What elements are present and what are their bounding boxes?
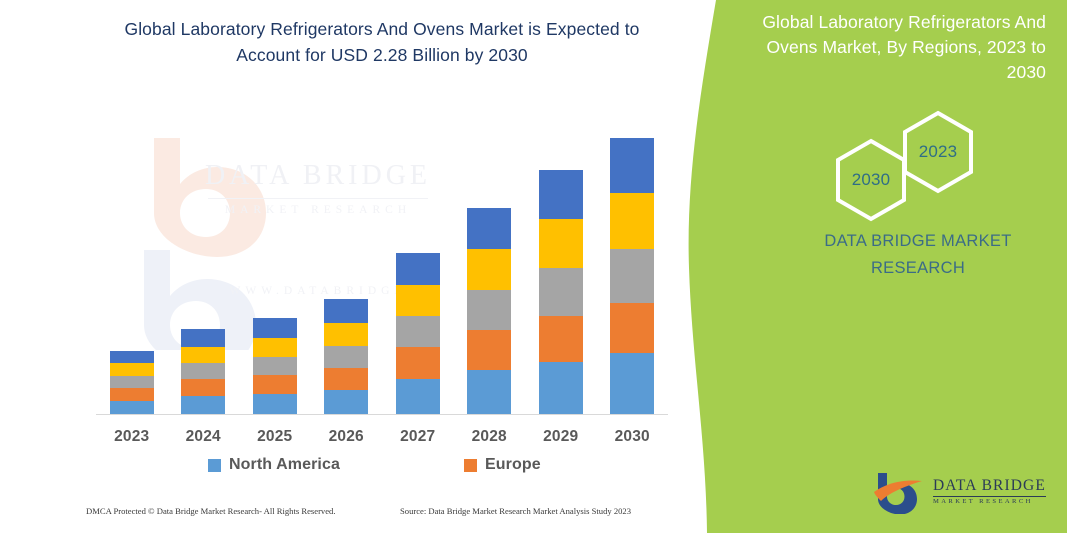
bar-segment-2025-north-america[interactable] bbox=[253, 394, 297, 415]
bar-segment-2027-series-4[interactable] bbox=[396, 285, 440, 316]
footer: DMCA Protected © Data Bridge Market Rese… bbox=[0, 506, 700, 526]
legend-label: Europe bbox=[485, 456, 541, 474]
bar-segment-2023-series-3[interactable] bbox=[110, 376, 154, 388]
data-bridge-logo-icon bbox=[872, 470, 924, 514]
legend-swatch-icon bbox=[464, 459, 477, 472]
bar-segment-2023-series-4[interactable] bbox=[110, 363, 154, 376]
hexagon-2030-label: 2030 bbox=[833, 138, 909, 222]
data-bridge-logo: DATA BRIDGE MARKET RESEARCH bbox=[872, 470, 1046, 514]
bar-segment-2024-series-5[interactable] bbox=[181, 329, 225, 347]
bar-column-2025[interactable] bbox=[253, 318, 297, 415]
bar-segment-2027-series-3[interactable] bbox=[396, 316, 440, 347]
bar-column-2027[interactable] bbox=[396, 253, 440, 415]
x-axis-label-2030: 2030 bbox=[596, 428, 668, 446]
bar-segment-2026-series-3[interactable] bbox=[324, 346, 368, 368]
bar-segment-2027-north-america[interactable] bbox=[396, 379, 440, 415]
logo-main-text: DATA BRIDGE bbox=[933, 478, 1046, 494]
bar-segment-2028-north-america[interactable] bbox=[467, 370, 511, 415]
bar-segment-2028-series-3[interactable] bbox=[467, 290, 511, 330]
hexagon-2023: 2023 bbox=[900, 110, 976, 199]
bar-segment-2027-series-5[interactable] bbox=[396, 253, 440, 285]
bar-chart-plot-area bbox=[96, 100, 668, 415]
bar-segment-2029-series-5[interactable] bbox=[539, 170, 583, 219]
bar-segment-2023-north-america[interactable] bbox=[110, 401, 154, 415]
bar-segment-2025-series-5[interactable] bbox=[253, 318, 297, 338]
bar-segment-2026-europe[interactable] bbox=[324, 368, 368, 390]
bar-segment-2030-series-4[interactable] bbox=[610, 193, 654, 249]
bar-segment-2023-series-5[interactable] bbox=[110, 351, 154, 363]
bar-column-2026[interactable] bbox=[324, 299, 368, 415]
x-axis-label-2026: 2026 bbox=[310, 428, 382, 446]
bar-segment-2028-series-5[interactable] bbox=[467, 208, 511, 249]
x-axis-labels: 20232024202520262027202820292030 bbox=[96, 428, 668, 454]
bar-segment-2029-europe[interactable] bbox=[539, 316, 583, 362]
data-bridge-logo-text: DATA BRIDGE MARKET RESEARCH bbox=[933, 478, 1046, 505]
panel-brand-subtitle: DATA BRIDGE MARKET RESEARCH bbox=[790, 228, 1046, 282]
bar-segment-2024-europe[interactable] bbox=[181, 379, 225, 396]
bar-segment-2026-series-5[interactable] bbox=[324, 299, 368, 323]
hexagon-2023-label: 2023 bbox=[900, 110, 976, 194]
x-axis-line bbox=[96, 414, 668, 415]
x-axis-label-2025: 2025 bbox=[239, 428, 311, 446]
x-axis-label-2029: 2029 bbox=[525, 428, 597, 446]
legend-swatch-icon bbox=[208, 459, 221, 472]
x-axis-label-2028: 2028 bbox=[453, 428, 525, 446]
hexagon-2030: 2030 bbox=[833, 138, 909, 227]
x-axis-label-2023: 2023 bbox=[96, 428, 168, 446]
bar-segment-2029-series-3[interactable] bbox=[539, 268, 583, 316]
bar-segment-2030-north-america[interactable] bbox=[610, 353, 654, 415]
legend-item-north-america[interactable]: North America bbox=[208, 456, 340, 474]
infographic-canvas: Global Laboratory Refrigerators And Oven… bbox=[0, 0, 1067, 533]
bar-segment-2023-europe[interactable] bbox=[110, 388, 154, 401]
bar-segment-2030-series-5[interactable] bbox=[610, 138, 654, 193]
bar-segment-2030-series-3[interactable] bbox=[610, 249, 654, 303]
bar-column-2030[interactable] bbox=[610, 138, 654, 415]
panel-title: Global Laboratory Refrigerators And Oven… bbox=[758, 10, 1046, 85]
bar-segment-2027-europe[interactable] bbox=[396, 347, 440, 379]
bar-segment-2028-europe[interactable] bbox=[467, 330, 511, 370]
chart-title: Global Laboratory Refrigerators And Oven… bbox=[96, 16, 668, 68]
bar-column-2023[interactable] bbox=[110, 351, 154, 415]
x-axis-label-2024: 2024 bbox=[167, 428, 239, 446]
bar-column-2029[interactable] bbox=[539, 170, 583, 415]
logo-sub-text: MARKET RESEARCH bbox=[933, 499, 1046, 506]
footer-copyright: DMCA Protected © Data Bridge Market Rese… bbox=[86, 506, 336, 516]
bar-segment-2025-series-3[interactable] bbox=[253, 357, 297, 375]
bar-segment-2029-series-4[interactable] bbox=[539, 219, 583, 268]
chart-legend: North AmericaEurope bbox=[96, 456, 668, 480]
bar-segment-2025-series-4[interactable] bbox=[253, 338, 297, 357]
bar-column-2028[interactable] bbox=[467, 208, 511, 415]
bar-segment-2028-series-4[interactable] bbox=[467, 249, 511, 290]
bar-segment-2024-series-4[interactable] bbox=[181, 347, 225, 363]
bar-segment-2030-europe[interactable] bbox=[610, 303, 654, 353]
x-axis-label-2027: 2027 bbox=[382, 428, 454, 446]
logo-divider bbox=[933, 496, 1046, 497]
legend-item-europe[interactable]: Europe bbox=[464, 456, 541, 474]
legend-label: North America bbox=[229, 456, 340, 474]
bar-segment-2025-europe[interactable] bbox=[253, 375, 297, 394]
bar-column-2024[interactable] bbox=[181, 329, 225, 415]
bar-segment-2029-north-america[interactable] bbox=[539, 362, 583, 415]
bar-segment-2026-series-4[interactable] bbox=[324, 323, 368, 346]
bar-segment-2024-north-america[interactable] bbox=[181, 396, 225, 415]
footer-source: Source: Data Bridge Market Research Mark… bbox=[400, 506, 631, 516]
bar-segment-2024-series-3[interactable] bbox=[181, 363, 225, 379]
bar-segment-2026-north-america[interactable] bbox=[324, 390, 368, 415]
